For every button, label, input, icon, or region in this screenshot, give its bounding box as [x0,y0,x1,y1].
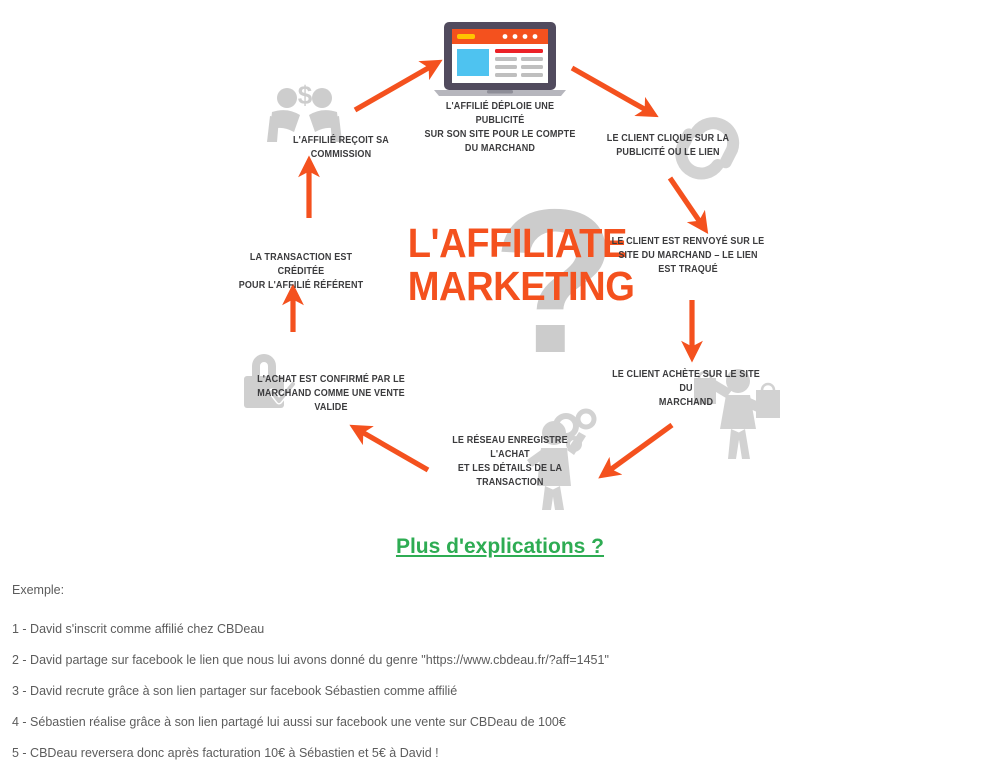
arrow-click-to-redirect [670,178,700,222]
wordmark-text: L'AFFILIATE MARKETING [408,223,613,307]
more-explanations-heading: Plus d'explications ? [0,535,1000,559]
step-label-redirect: LE CLIENT EST RENVOYÉ SUR LE SITE DU MAR… [611,234,766,276]
center-wordmark: ? L'AFFILIATE MARKETING [400,185,620,360]
example-line-5: 5 - CBDeau reversera donc après facturat… [12,745,439,761]
laptop-website-icon [434,22,566,96]
wordmark-line-2: MARKETING [408,266,613,307]
arrow-network-to-confirmed [362,432,428,470]
more-explanations-link[interactable]: Plus d'explications ? [396,535,604,558]
step-label-purchase: LE CLIENT ACHÈTE SUR LE SITE DU MARCHAND [609,367,764,409]
arrow-advertise-to-click [572,68,646,110]
step-label-credited: LA TRANSACTION EST CRÉDITÉE POUR L'AFFIL… [228,250,374,292]
example-line-3: 3 - David recrute grâce à son lien parta… [12,683,457,699]
step-label-commission: L'AFFILIÉ REÇOIT SA COMMISSION [268,133,414,161]
step-label-network-records: LE RÉSEAU ENREGISTRE L'ACHAT ET LES DÉTA… [433,433,588,489]
wordmark-line-1: L'AFFILIATE [408,220,627,266]
example-line-1: 1 - David s'inscrit comme affilié chez C… [12,621,264,637]
example-line-2: 2 - David partage sur facebook le lien q… [12,652,609,668]
svg-text:$: $ [298,80,313,110]
explanation-section: Plus d'explications ? Exemple: 1 - David… [0,518,1000,757]
arrow-commission-to-advertise [355,67,430,110]
example-line-4: 4 - Sébastien réalise grâce à son lien p… [12,714,566,730]
affiliate-marketing-infographic: $ [0,0,1000,518]
example-label: Exemple: [12,582,64,598]
arrow-purchase-to-network [610,425,672,470]
step-label-click: LE CLIENT CLIQUE SUR LA PUBLICITÉ OU LE … [599,131,737,159]
step-label-confirmed: L'ACHAT EST CONFIRMÉ PAR LE MARCHAND COM… [254,372,407,414]
step-label-advertise: L'AFFILIÉ DÉPLOIE UNE PUBLICITÉ SUR SON … [423,99,578,155]
